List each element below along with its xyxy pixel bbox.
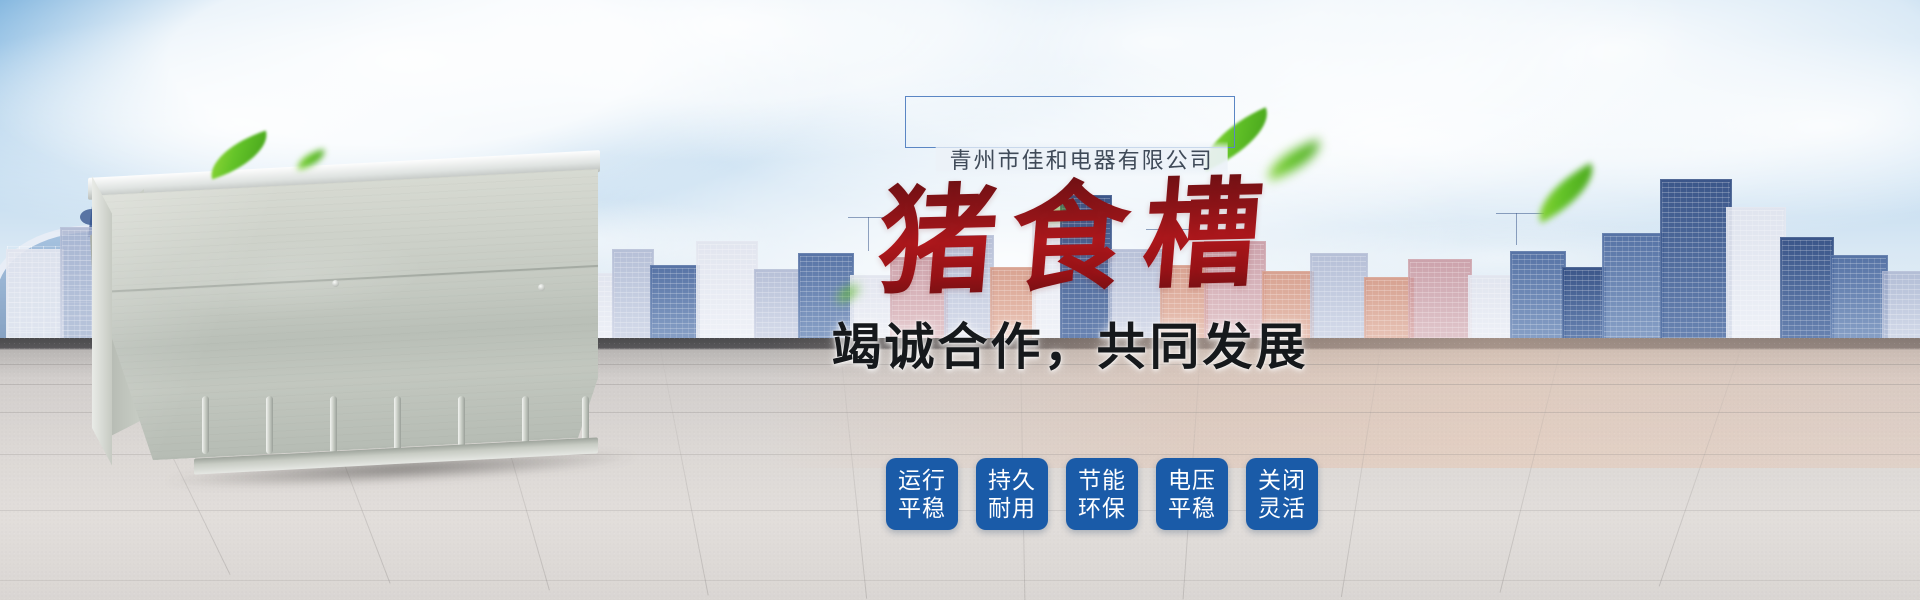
construction-crane xyxy=(1516,213,1517,245)
page-title: 猪食槽 xyxy=(694,165,1446,310)
headline-copy-block: 青州市佳和电器有限公司 猪食槽 竭诚合作，共同发展 xyxy=(700,96,1440,379)
feature-badge[interactable]: 关闭 灵活 xyxy=(1246,458,1318,530)
feature-badge[interactable]: 节能 环保 xyxy=(1066,458,1138,530)
badge-line-2: 耐用 xyxy=(988,494,1036,522)
building xyxy=(1468,275,1514,345)
badge-line-1: 节能 xyxy=(1078,466,1126,494)
trough-left-edge-lip xyxy=(92,176,112,466)
badge-line-2: 灵活 xyxy=(1258,494,1306,522)
trough-bolt xyxy=(332,280,339,287)
building xyxy=(1660,179,1732,345)
trough-bolt xyxy=(538,284,545,291)
building xyxy=(1830,255,1888,345)
building xyxy=(1780,237,1834,345)
building xyxy=(1726,207,1786,345)
building xyxy=(1562,267,1606,345)
building xyxy=(612,249,654,345)
building xyxy=(650,265,700,345)
badge-line-1: 电压 xyxy=(1168,466,1216,494)
building xyxy=(1882,271,1920,345)
badge-line-2: 平稳 xyxy=(1168,494,1216,522)
building xyxy=(6,249,64,345)
badge-line-1: 关闭 xyxy=(1258,466,1306,494)
feature-badge[interactable]: 持久 耐用 xyxy=(976,458,1048,530)
promo-banner: 青州市佳和电器有限公司 猪食槽 竭诚合作，共同发展 运行 平稳 持久 耐用 节能… xyxy=(0,0,1920,600)
badge-line-2: 平稳 xyxy=(898,494,946,522)
feature-badge[interactable]: 运行 平稳 xyxy=(886,458,958,530)
building xyxy=(1602,233,1664,345)
feature-badge[interactable]: 电压 平稳 xyxy=(1156,458,1228,530)
badge-line-1: 运行 xyxy=(898,466,946,494)
subtitle-slogan: 竭诚合作，共同发展 xyxy=(700,307,1440,379)
pig-feeder-trough-product xyxy=(70,160,610,470)
badge-line-2: 环保 xyxy=(1078,494,1126,522)
feature-badge-list: 运行 平稳 持久 耐用 节能 环保 电压 平稳 关闭 灵活 xyxy=(886,458,1318,530)
company-name-frame: 青州市佳和电器有限公司 xyxy=(905,96,1235,148)
building xyxy=(1510,251,1566,345)
badge-line-1: 持久 xyxy=(988,466,1036,494)
